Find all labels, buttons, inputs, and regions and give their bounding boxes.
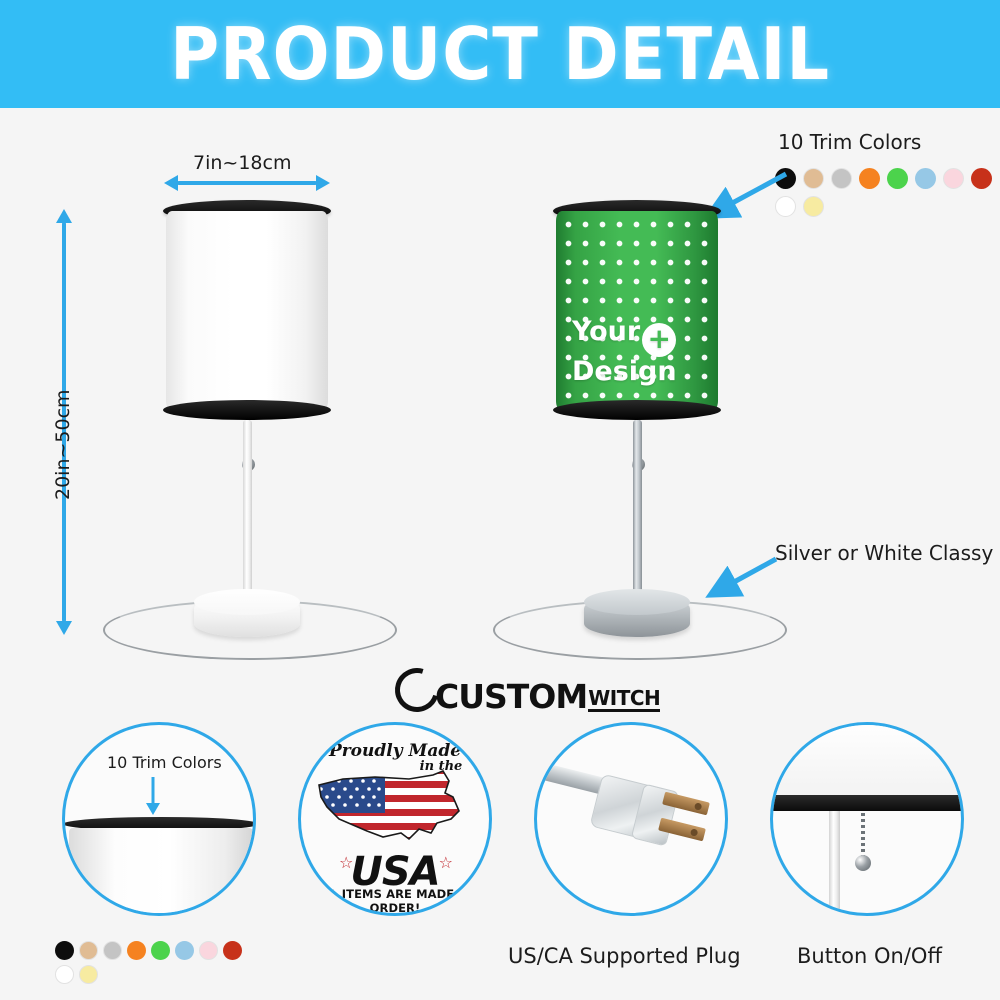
usa-footer-text: ALL ITEMS ARE MADE TO ORDER! xyxy=(301,887,489,915)
trim-swatch-tan[interactable] xyxy=(79,941,98,960)
lamp-pole-silver xyxy=(633,420,642,605)
plug-caption: US/CA Supported Plug xyxy=(508,944,741,968)
feature-circle-made-in-usa: Proudly Made in the xyxy=(298,722,492,916)
trim-swatch-red[interactable] xyxy=(971,168,992,189)
trim-swatch-green[interactable] xyxy=(887,168,908,189)
header-banner: PRODUCT DETAIL xyxy=(0,0,1000,108)
star-right-icon: ☆ xyxy=(439,853,453,872)
feature-circle-trim-colors: 10 Trim Colors xyxy=(62,722,256,916)
shade-trim-switch-closeup xyxy=(770,795,964,811)
trim-swatch-yellow[interactable] xyxy=(79,965,98,984)
base-finish-label: Silver or White Classy xyxy=(775,541,993,565)
design-line-2: Design xyxy=(572,356,677,387)
plus-circle-icon: + xyxy=(642,323,676,357)
shade-bottom-closeup xyxy=(770,722,964,799)
pull-chain-closeup[interactable] xyxy=(861,813,865,861)
trim-colors-label-circle: 10 Trim Colors xyxy=(107,753,222,772)
base-finish-pointer-arrow xyxy=(700,555,780,603)
feature-circle-switch xyxy=(770,722,964,916)
your-design-text: Your+ Design xyxy=(556,317,718,387)
trim-swatch-red[interactable] xyxy=(223,941,242,960)
plug-illustration xyxy=(537,725,725,913)
trim-colors-label-top: 10 Trim Colors xyxy=(778,130,921,154)
brand-name-sub: WITCH xyxy=(588,688,660,712)
trim-swatch-light-blue[interactable] xyxy=(175,941,194,960)
page-title: PRODUCT DETAIL xyxy=(35,18,965,90)
brand-logo: CUSTOM WITCH xyxy=(395,668,660,712)
lamp-pole-white xyxy=(243,420,252,605)
shade-body-closeup xyxy=(69,828,253,916)
usa-map-flag-icon xyxy=(313,767,477,853)
trim-color-swatches-top xyxy=(775,168,1000,217)
lamp-shade-green: Your+ Design xyxy=(556,211,718,411)
width-dimension-arrow xyxy=(177,181,317,185)
down-arrow-icon xyxy=(141,775,165,817)
usa-title-line1: Proudly Made xyxy=(301,741,492,761)
pull-chain-bead-closeup[interactable] xyxy=(855,855,871,871)
infographic-canvas: PRODUCT DETAIL 10 Trim Colors 7in~18cm 2… xyxy=(0,0,1000,1000)
lamp-shade-white xyxy=(166,211,328,411)
width-dimension-label: 7in~18cm xyxy=(193,152,291,174)
trim-colors-illustration: 10 Trim Colors xyxy=(65,725,253,913)
switch-caption: Button On/Off xyxy=(797,944,942,968)
trim-swatch-black[interactable] xyxy=(55,941,74,960)
lamp-pole-closeup xyxy=(829,811,840,913)
height-dimension-label: 20in~50cm xyxy=(52,389,74,500)
lamp-base-top-silver xyxy=(584,589,690,615)
trim-swatch-pink[interactable] xyxy=(943,168,964,189)
trim-swatch-gray[interactable] xyxy=(831,168,852,189)
shade-bottom-trim-green xyxy=(553,400,721,420)
trim-swatch-yellow[interactable] xyxy=(803,196,824,217)
trim-swatch-tan[interactable] xyxy=(803,168,824,189)
trim-swatch-pink[interactable] xyxy=(199,941,218,960)
feature-circle-plug xyxy=(534,722,728,916)
trim-swatch-light-blue[interactable] xyxy=(915,168,936,189)
design-line-1: Your xyxy=(572,316,640,347)
trim-swatch-gray[interactable] xyxy=(103,941,122,960)
lamp-base-top-white xyxy=(194,589,300,615)
brand-name-main: CUSTOM xyxy=(435,682,587,712)
usa-badge: Proudly Made in the xyxy=(301,725,489,913)
trim-swatch-orange[interactable] xyxy=(127,941,146,960)
trim-swatch-white[interactable] xyxy=(55,965,74,984)
trim-color-swatches-bottom xyxy=(55,941,260,984)
trim-swatch-green[interactable] xyxy=(151,941,170,960)
switch-illustration xyxy=(773,725,961,913)
shade-bottom-trim-white xyxy=(163,400,331,420)
trim-swatch-orange[interactable] xyxy=(859,168,880,189)
